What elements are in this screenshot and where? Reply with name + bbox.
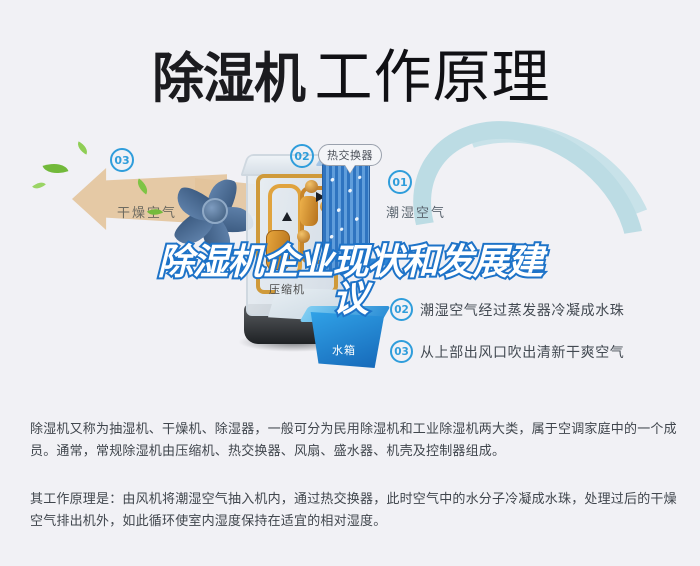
legend-text-02: 潮湿空气经过蒸发器冷凝成水珠 (420, 300, 624, 320)
page-title: 除湿机工作原理 (0, 30, 700, 114)
list-item: 03 从上部出风口吹出清新干爽空气 (390, 340, 690, 363)
list-item: 02 潮湿空气经过蒸发器冷凝成水珠 (390, 298, 690, 321)
humid-air-label: 潮湿空气 (386, 202, 446, 221)
water-tank-label: 水箱 (332, 342, 356, 358)
legend-badge-02: 02 (390, 298, 413, 321)
heat-exchanger-callout: 热交换器 (318, 144, 382, 166)
page-title-strong: 除湿机 (153, 34, 306, 113)
legend-list: 02 潮湿空气经过蒸发器冷凝成水珠 03 从上部出风口吹出清新干爽空气 (390, 298, 690, 382)
compressor-cylinder-icon (266, 230, 290, 270)
body-paragraph-2: 其工作原理是：由风机将潮湿空气抽入机内，通过热交换器，此时空气中的水分子冷凝成水… (30, 489, 678, 533)
diagram-badge-01: 01 (388, 170, 412, 194)
page-title-light: 工作原理 (314, 30, 550, 114)
diagram-badge-02: 02 (290, 144, 314, 168)
legend-badge-03: 03 (390, 340, 413, 363)
legend-text-03: 从上部出风口吹出清新干爽空气 (420, 342, 624, 362)
leaf-icon (43, 159, 69, 178)
leaf-icon (75, 141, 90, 154)
condensation-droplets-icon (324, 163, 366, 268)
diagram-badge-03: 03 (110, 148, 134, 172)
leaf-icon (32, 179, 46, 192)
body-paragraph-1: 除湿机又称为抽湿机、干燥机、除湿器，一般可分为民用除湿机和工业除湿机两大类，属于… (30, 419, 678, 463)
flow-arrow-down-icon (282, 212, 292, 221)
fan-hub-icon (202, 198, 228, 224)
page-root: 除湿机工作原理 干燥空气 (0, 0, 700, 566)
pipe-joint-icon (297, 230, 310, 243)
compressor-label: 压缩机 (269, 281, 305, 297)
water-tank-icon (306, 312, 384, 368)
